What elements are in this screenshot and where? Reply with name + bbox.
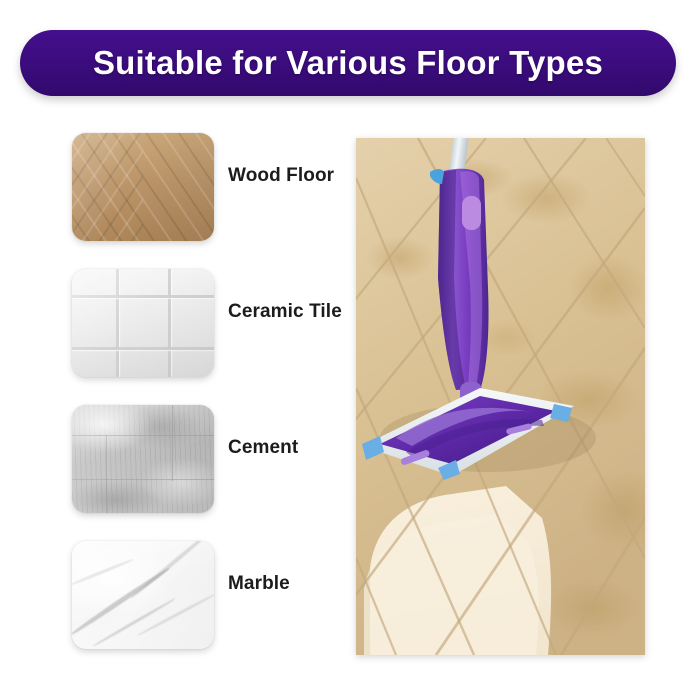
floor-type-label-cement: Cement xyxy=(228,380,298,516)
list-item: Cement xyxy=(0,380,350,516)
cement-swatch xyxy=(72,405,214,513)
marble-texture xyxy=(72,541,214,649)
wood-floor-swatch xyxy=(72,133,214,241)
product-photo xyxy=(356,138,645,655)
page-title: Suitable for Various Floor Types xyxy=(93,44,603,82)
swatch-sheen xyxy=(72,405,214,513)
mop-on-tile-illustration xyxy=(356,138,645,655)
floor-type-label-ceramic: Ceramic Tile xyxy=(228,244,342,380)
list-item: Marble xyxy=(0,516,350,652)
marble-swatch xyxy=(72,541,214,649)
wood-texture xyxy=(72,133,214,241)
swatch-sheen xyxy=(72,269,214,377)
floor-type-list: Wood Floor Ceramic Tile Cement xyxy=(0,108,350,652)
ceramic-tile-swatch xyxy=(72,269,214,377)
swatch-sheen xyxy=(72,133,214,241)
list-item: Wood Floor xyxy=(0,108,350,244)
floor-type-label-wood: Wood Floor xyxy=(228,108,334,244)
header-banner: Suitable for Various Floor Types xyxy=(20,30,676,96)
list-item: Ceramic Tile xyxy=(0,244,350,380)
swatch-sheen xyxy=(72,541,214,649)
ceramic-texture xyxy=(72,269,214,377)
cement-texture xyxy=(72,405,214,513)
floor-type-label-marble: Marble xyxy=(228,516,290,652)
